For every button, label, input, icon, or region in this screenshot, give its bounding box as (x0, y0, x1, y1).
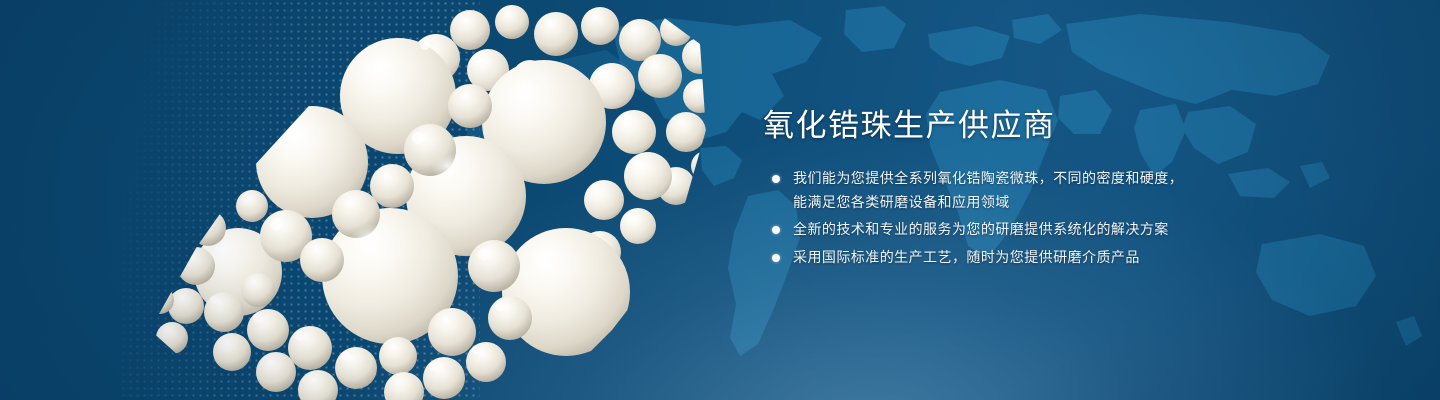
list-item: 全新的技术和专业的服务为您的研磨提供系统化的解决方案 (763, 218, 1263, 242)
list-item: 采用国际标准的生产工艺，随时为您提供研磨介质产品 (763, 246, 1263, 270)
bullet-line-2: 能满足您各类研磨设备和应用领域 (793, 191, 1263, 215)
list-item: 我们能为您提供全系列氧化锆陶瓷微珠，不同的密度和硬度， 能满足您各类研磨设备和应… (763, 167, 1263, 214)
bullet-line-1: 采用国际标准的生产工艺，随时为您提供研磨介质产品 (793, 249, 1140, 265)
bullet-line-1: 全新的技术和专业的服务为您的研磨提供系统化的解决方案 (793, 221, 1169, 237)
bullet-dot-icon (772, 175, 780, 183)
zirconia-beads-image (0, 0, 760, 400)
banner-copy: 氧化锆珠生产供应商 我们能为您提供全系列氧化锆陶瓷微珠，不同的密度和硬度， 能满… (763, 106, 1263, 269)
bullet-dot-icon (772, 254, 780, 262)
banner-headline: 氧化锆珠生产供应商 (763, 106, 1263, 146)
hero-banner: 氧化锆珠生产供应商 我们能为您提供全系列氧化锆陶瓷微珠，不同的密度和硬度， 能满… (0, 0, 1440, 400)
bullet-dot-icon (772, 226, 780, 234)
bullet-line-1: 我们能为您提供全系列氧化锆陶瓷微珠，不同的密度和硬度， (793, 170, 1183, 186)
banner-bullet-list: 我们能为您提供全系列氧化锆陶瓷微珠，不同的密度和硬度， 能满足您各类研磨设备和应… (763, 167, 1263, 269)
